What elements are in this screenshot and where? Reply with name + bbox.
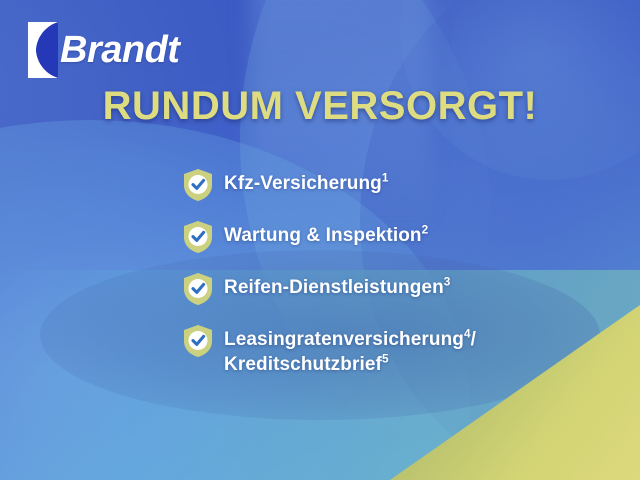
brandt-bracket-mark-icon: [28, 22, 58, 78]
shield-check-icon: [182, 168, 214, 202]
promo-graphic: Brandt RUNDUM VERSORGT! Kfz-Versicherung…: [0, 0, 640, 480]
feature-footnote: 4: [464, 328, 471, 341]
list-item: Wartung & Inspektion2: [182, 220, 476, 254]
feature-label: Leasingratenversicherung4/Kreditschutzbr…: [224, 324, 476, 377]
feature-label-line2-text: Kreditschutzbrief: [224, 354, 382, 375]
feature-footnote-line2: 5: [382, 353, 389, 366]
feature-label-suffix: /: [471, 329, 476, 350]
feature-label-text: Kfz-Versicherung: [224, 173, 382, 194]
list-item: Leasingratenversicherung4/Kreditschutzbr…: [182, 324, 476, 377]
feature-label-text: Leasingratenversicherung: [224, 329, 464, 350]
list-item: Kfz-Versicherung1: [182, 168, 476, 202]
brand-logo: Brandt: [28, 22, 179, 78]
feature-label-line2: Kreditschutzbrief5: [224, 352, 476, 377]
feature-label-text: Reifen-Dienstleistungen: [224, 277, 444, 298]
feature-label-text: Wartung & Inspektion: [224, 225, 422, 246]
feature-label: Wartung & Inspektion2: [224, 220, 428, 248]
shield-check-icon: [182, 324, 214, 358]
brand-wordmark: Brandt: [60, 31, 179, 69]
feature-label: Reifen-Dienstleistungen3: [224, 272, 450, 300]
list-item: Reifen-Dienstleistungen3: [182, 272, 476, 306]
feature-footnote: 1: [382, 172, 389, 185]
feature-label: Kfz-Versicherung1: [224, 168, 389, 196]
feature-footnote: 2: [422, 224, 429, 237]
feature-footnote: 3: [444, 276, 451, 289]
shield-check-icon: [182, 272, 214, 306]
feature-list: Kfz-Versicherung1 Wartung & Inspektion2: [182, 168, 476, 377]
page-title: RUNDUM VERSORGT!: [0, 86, 640, 126]
shield-check-icon: [182, 220, 214, 254]
